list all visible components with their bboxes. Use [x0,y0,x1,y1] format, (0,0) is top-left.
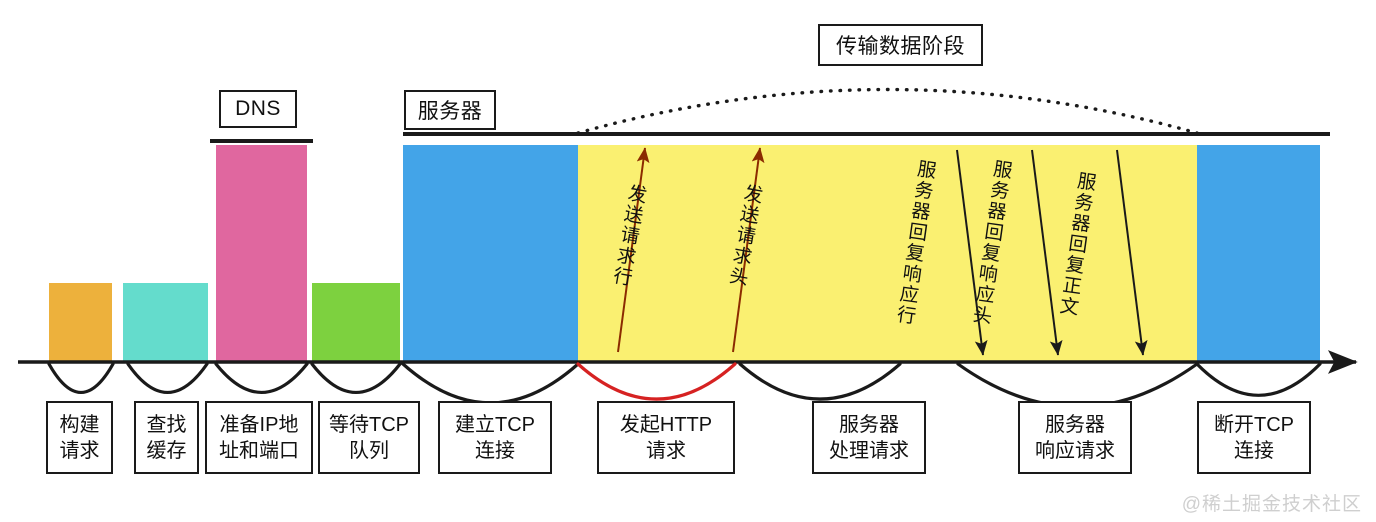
bar-build-request [49,283,112,362]
callout-label: DNS [235,97,281,121]
stage-box-lookup-cache[interactable]: 查找缓存 [134,401,199,474]
stage-box-prepare-ip-port[interactable]: 准备IP地址和端口 [205,401,313,474]
stage-box-line: 队列 [349,438,389,464]
arc-build-request [49,364,113,392]
stage-box-build-request[interactable]: 构建请求 [46,401,113,474]
stage-box-line: 缓存 [147,438,187,464]
arc-disconnect-tcp [1197,364,1320,395]
stage-box-initiate-http[interactable]: 发起HTTP请求 [597,401,735,474]
stage-box-line: 查找 [147,412,187,438]
stage-box-line: 连接 [475,438,515,464]
stage-box-line: 连接 [1234,438,1274,464]
stage-box-line: 断开TCP [1214,412,1294,438]
callout-dns: DNS [219,90,297,128]
arc-wait-tcp-queue [312,364,400,392]
callout-label: 服务器 [418,95,483,125]
stage-box-wait-tcp-queue[interactable]: 等待TCP队列 [318,401,420,474]
stage-box-line: 址和端口 [219,438,299,464]
bar-establish-tcp [403,145,578,362]
stage-box-line: 响应请求 [1035,438,1115,464]
stage-box-line: 服务器 [839,412,899,438]
stage-box-line: 建立TCP [455,412,535,438]
arc-prepare-ip-port [216,364,307,392]
diagram-canvas: DNS服务器传输数据阶段 发送请求行发送请求头服务器回复响应行服务器回复响应头服… [0,0,1376,522]
arc-initiate-http [578,364,735,399]
bar-http-exchange [578,145,1197,362]
stage-box-server-respond[interactable]: 服务器响应请求 [1018,401,1132,474]
stage-box-line: 请求 [60,438,100,464]
bar-wait-tcp-queue [312,283,400,362]
callout-server: 服务器 [404,90,496,130]
callout-label: 传输数据阶段 [836,30,965,60]
stage-box-line: 等待TCP [329,412,409,438]
arc-establish-tcp [403,364,578,403]
stage-box-server-process[interactable]: 服务器处理请求 [812,401,926,474]
bar-prepare-ip-port [216,145,307,362]
arc-lookup-cache [128,364,207,392]
stage-box-line: 构建 [60,412,100,438]
stage-box-line: 发起HTTP [620,412,712,438]
bar-lookup-cache [123,283,208,362]
watermark: @稀土掘金技术社区 [1182,489,1362,516]
stage-box-line: 请求 [646,438,686,464]
stage-box-establish-tcp[interactable]: 建立TCP连接 [438,401,552,474]
stage-box-line: 处理请求 [829,438,909,464]
arc-server-process [740,364,900,399]
stage-box-line: 准备IP地 [220,412,299,438]
top-rule-line [403,132,1330,136]
callout-transfer: 传输数据阶段 [818,24,983,66]
bar-disconnect-tcp [1197,145,1320,362]
stage-box-line: 服务器 [1045,412,1105,438]
stage-box-disconnect-tcp[interactable]: 断开TCP连接 [1197,401,1311,474]
top-rule-dns [210,139,313,143]
transfer-dotted-span [578,90,1197,134]
